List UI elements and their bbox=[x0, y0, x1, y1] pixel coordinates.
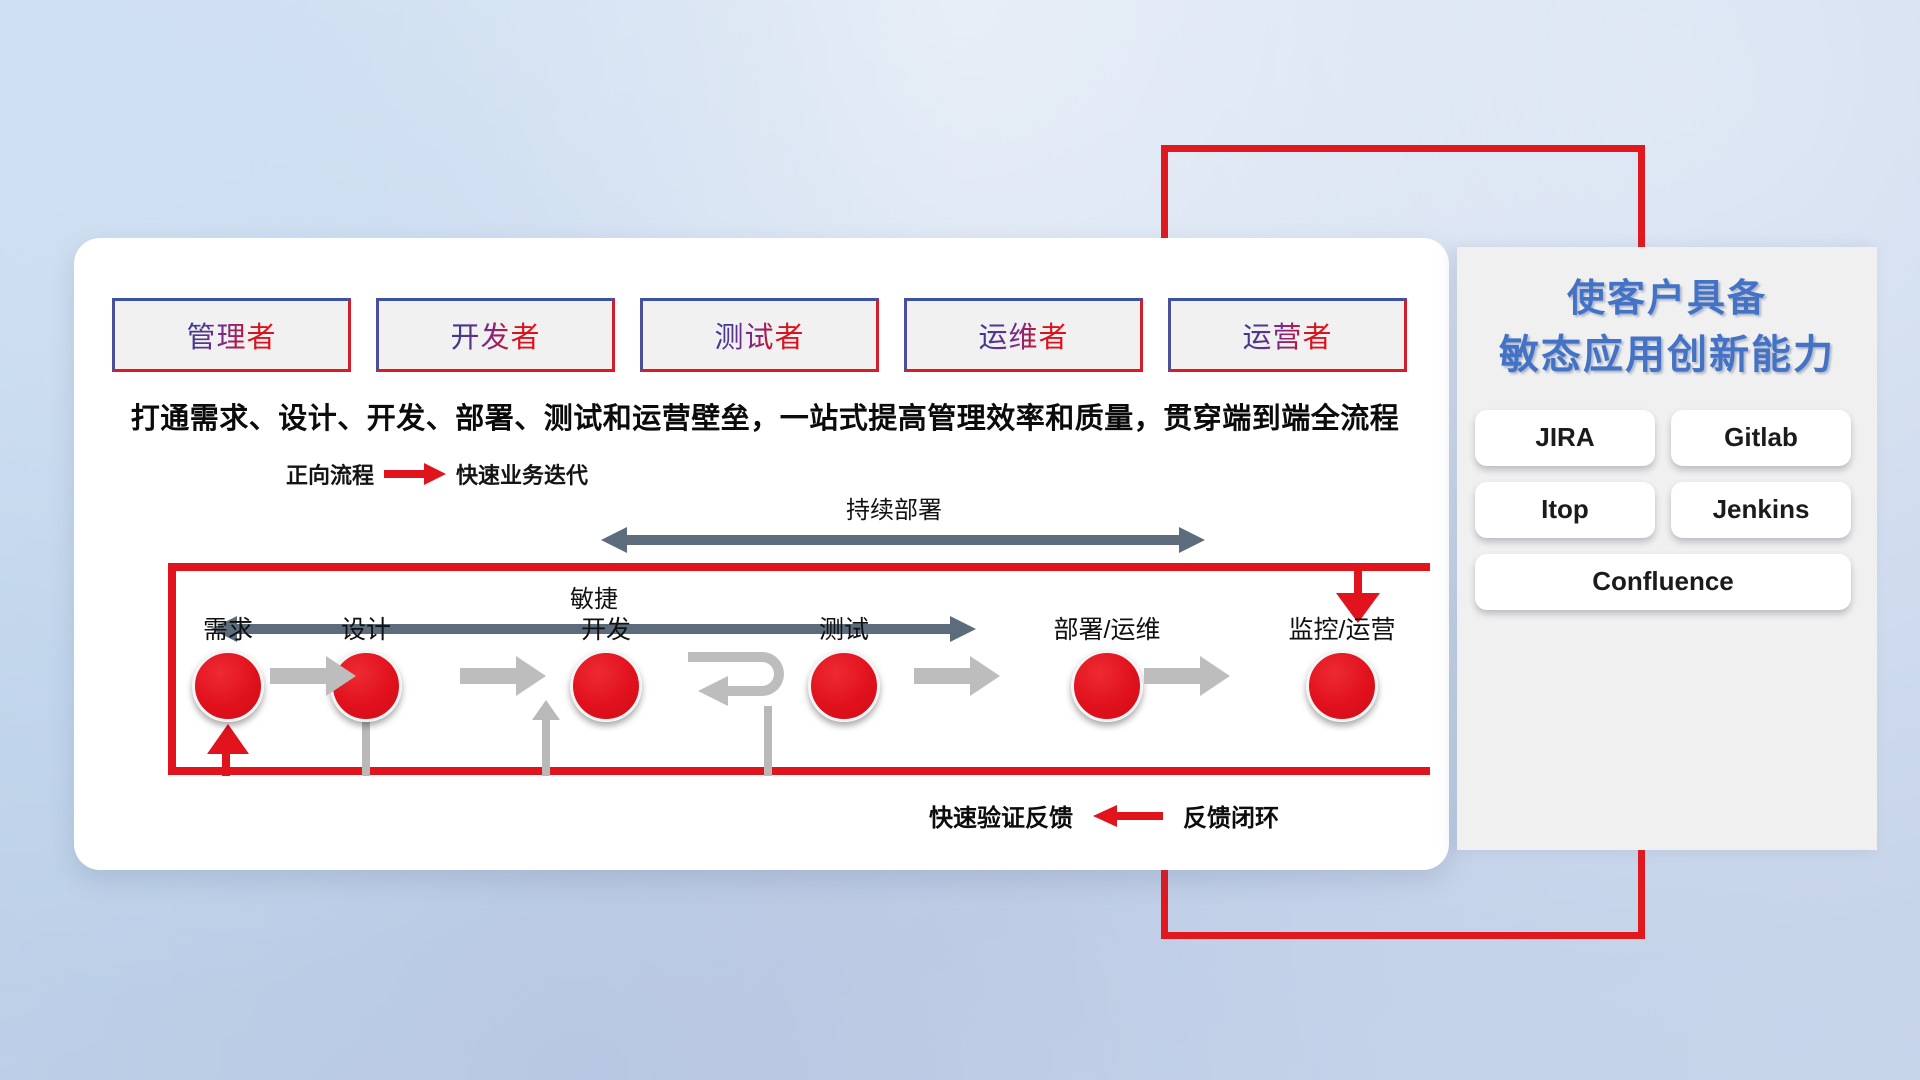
role-chip-operator[interactable]: 运营者 bbox=[1168, 298, 1407, 372]
stage-label: 开发 bbox=[566, 610, 646, 646]
stage-label: 测试 bbox=[804, 610, 884, 646]
pipeline-loop-left bbox=[168, 563, 176, 775]
tool-chip-itop[interactable]: Itop bbox=[1475, 482, 1655, 538]
flow-arrow-1-icon bbox=[270, 656, 356, 696]
agile-label: 敏捷 bbox=[494, 579, 694, 614]
forward-flow-right-label: 快速业务迭代 bbox=[456, 458, 588, 490]
continuous-deploy-arrow-icon bbox=[601, 525, 1205, 555]
stage-node-requirement[interactable]: 需求 bbox=[188, 610, 268, 722]
tool-chip-jira[interactable]: JIRA bbox=[1475, 410, 1655, 466]
tool-chip-jenkins[interactable]: Jenkins bbox=[1671, 482, 1851, 538]
role-chip-label: 测试者 bbox=[714, 314, 804, 356]
tool-chip-label: JIRA bbox=[1535, 422, 1594, 453]
feedback-caption: 快速验证反馈 反馈闭环 bbox=[929, 798, 1279, 833]
tool-chip-label: Jenkins bbox=[1713, 494, 1810, 525]
devops-main-card: 管理者 开发者 测试者 运维者 运营者 打通需求、设计、开发、部署、测试和运营壁… bbox=[74, 238, 1449, 870]
value-proposition-panel: 使客户具备 敏态应用创新能力 JIRA Gitlab Itop Jenkins … bbox=[1457, 247, 1877, 850]
stage-dot bbox=[570, 650, 642, 722]
stage-label: 需求 bbox=[188, 610, 268, 646]
role-chip-label: 运维者 bbox=[978, 314, 1068, 356]
stage-label: 部署/运维 bbox=[1032, 610, 1182, 646]
panel-headline-line2: 敏态应用创新能力 bbox=[1467, 327, 1867, 384]
role-chip-label: 运营者 bbox=[1242, 314, 1332, 356]
stage-dot bbox=[192, 650, 264, 722]
iteration-loop-icon bbox=[684, 648, 798, 710]
card-description: 打通需求、设计、开发、部署、测试和运营壁垒，一站式提高管理效率和质量，贯穿端到端… bbox=[120, 395, 1410, 437]
role-chip-tester[interactable]: 测试者 bbox=[640, 298, 879, 372]
pipeline-loop-bottom bbox=[168, 767, 1430, 775]
stage-dot bbox=[1306, 650, 1378, 722]
tool-chip-confluence[interactable]: Confluence bbox=[1475, 554, 1851, 610]
tool-chip-label: Itop bbox=[1541, 494, 1589, 525]
arrow-right-icon bbox=[384, 463, 446, 485]
tool-chip-label: Confluence bbox=[1592, 566, 1734, 597]
tool-chip-grid: JIRA Gitlab Itop Jenkins Confluence bbox=[1457, 388, 1877, 610]
arrow-left-icon bbox=[1093, 805, 1163, 827]
stage-stem-arrow-dev-icon bbox=[532, 700, 560, 720]
forward-flow-left-label: 正向流程 bbox=[286, 458, 374, 490]
forward-flow-caption: 正向流程 快速业务迭代 bbox=[286, 458, 588, 490]
stage-dot bbox=[1071, 650, 1143, 722]
role-chip-ops[interactable]: 运维者 bbox=[904, 298, 1143, 372]
continuous-deploy-label: 持续部署 bbox=[764, 490, 1024, 525]
role-chip-label: 管理者 bbox=[186, 314, 276, 356]
pipeline-loop-up-arrow-icon bbox=[207, 724, 249, 754]
flow-arrow-2-icon bbox=[460, 656, 546, 696]
role-chip-label: 开发者 bbox=[450, 314, 540, 356]
tool-chip-gitlab[interactable]: Gitlab bbox=[1671, 410, 1851, 466]
stage-node-test[interactable]: 测试 bbox=[804, 610, 884, 722]
role-chip-row: 管理者 开发者 测试者 运维者 运营者 bbox=[112, 298, 1407, 372]
stage-label: 监控/运营 bbox=[1262, 610, 1422, 646]
stage-node-development[interactable]: 开发 bbox=[566, 610, 646, 722]
stage-stem-test bbox=[764, 706, 772, 776]
panel-headline-line1: 使客户具备 bbox=[1467, 273, 1867, 327]
stage-dot bbox=[808, 650, 880, 722]
tool-chip-label: Gitlab bbox=[1724, 422, 1798, 453]
flow-arrow-4-icon bbox=[1144, 656, 1230, 696]
stage-node-monitor-operate[interactable]: 监控/运营 bbox=[1262, 610, 1422, 722]
role-chip-manager[interactable]: 管理者 bbox=[112, 298, 351, 372]
panel-headline: 使客户具备 敏态应用创新能力 bbox=[1457, 247, 1877, 388]
role-chip-developer[interactable]: 开发者 bbox=[376, 298, 615, 372]
feedback-left-label: 快速验证反馈 bbox=[929, 798, 1073, 833]
pipeline-loop-top bbox=[168, 563, 1430, 571]
flow-arrow-3-icon bbox=[914, 656, 1000, 696]
feedback-right-label: 反馈闭环 bbox=[1183, 798, 1279, 833]
stage-label: 设计 bbox=[326, 610, 406, 646]
slide-canvas: 管理者 开发者 测试者 运维者 运营者 打通需求、设计、开发、部署、测试和运营壁… bbox=[0, 0, 1920, 1080]
